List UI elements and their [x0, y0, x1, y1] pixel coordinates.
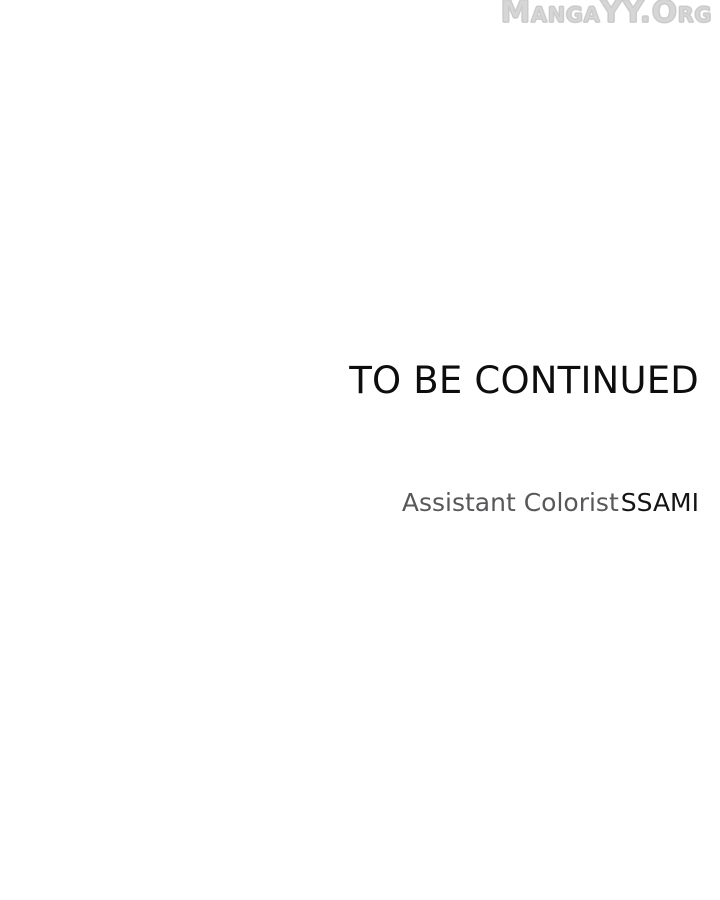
credit-line: Assistant ColoristSSAMI — [0, 489, 699, 518]
credit-artist-name: SSAMI — [621, 488, 699, 517]
to-be-continued-text: TO BE CONTINUED — [0, 360, 699, 401]
site-watermark: MangaYY.Org — [501, 0, 712, 28]
end-credits-block: TO BE CONTINUED Assistant ColoristSSAMI — [0, 360, 699, 518]
watermark-text: MangaYY.Org — [501, 0, 712, 28]
comic-page: MangaYY.Org TO BE CONTINUED Assistant Co… — [0, 0, 720, 900]
credit-role-label: Assistant Colorist — [402, 488, 619, 517]
